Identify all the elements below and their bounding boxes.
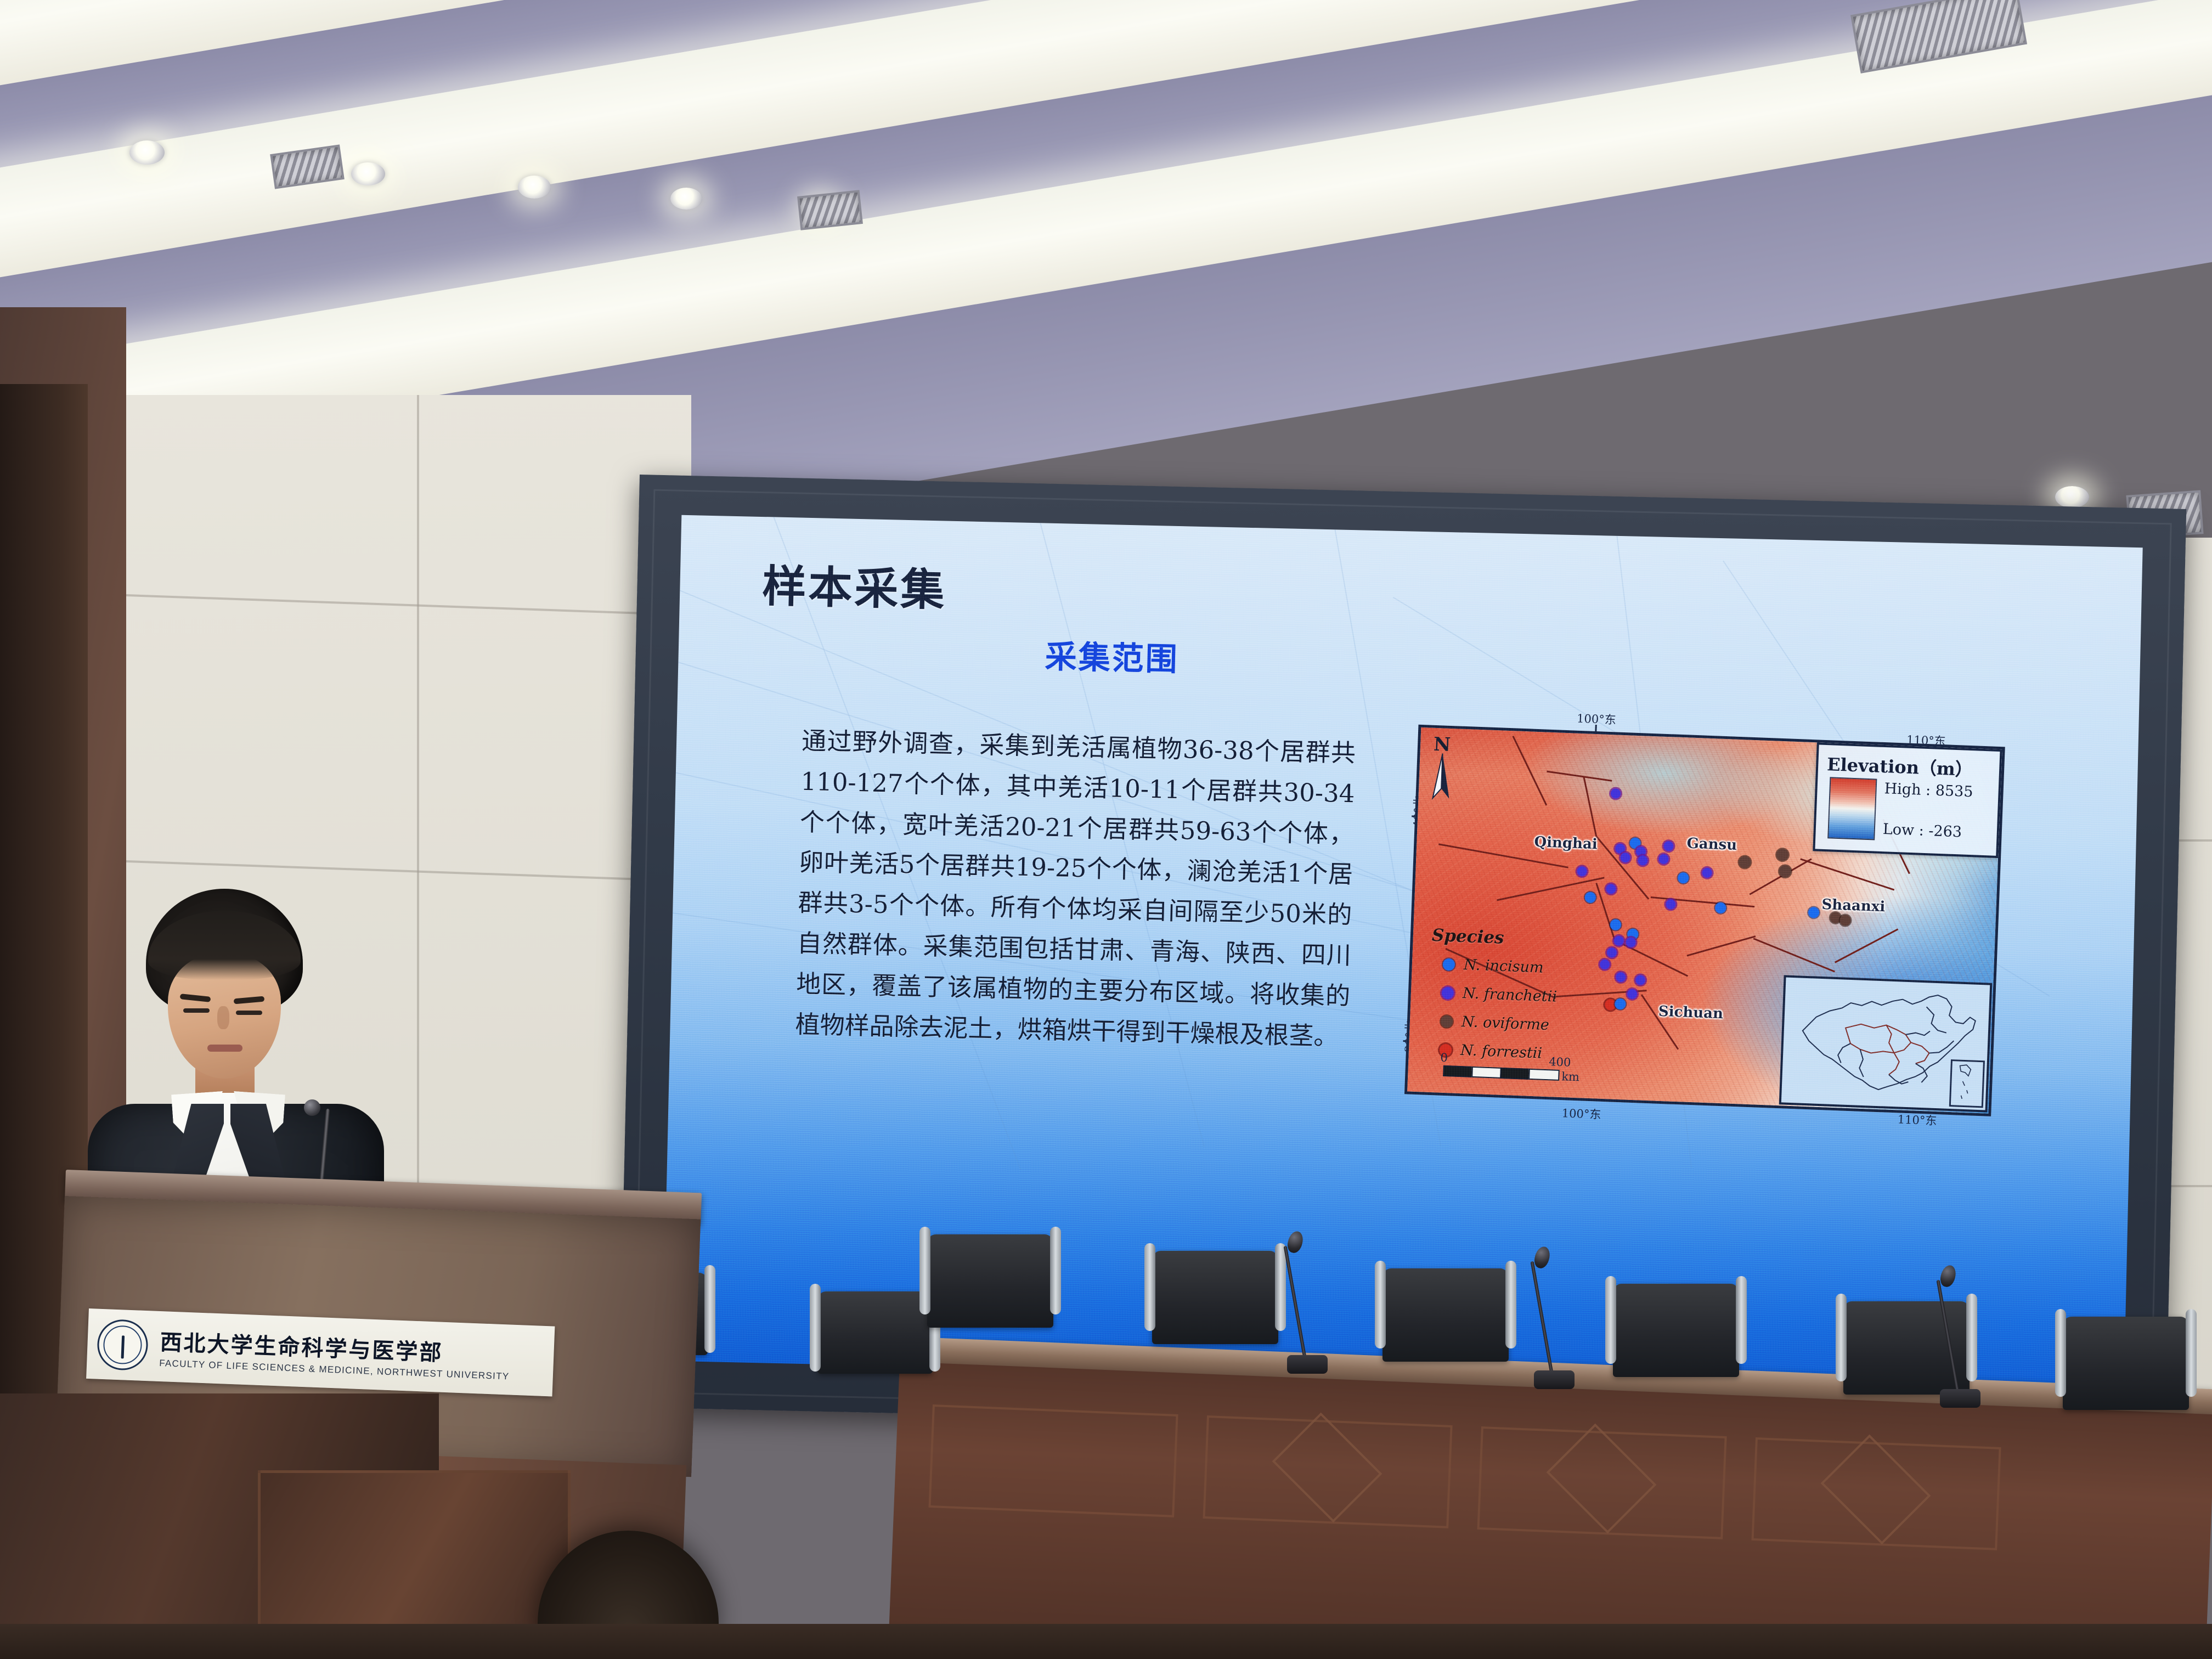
- elevation-legend-low: Low : -263: [1882, 821, 1962, 840]
- species-legend-title: Species: [1431, 926, 1504, 948]
- microphone-base: [1534, 1370, 1575, 1389]
- screenshot-root: 样本采集 采集范围 通过野外调查，采集到羌活属植物36-38个居群共110-12…: [0, 0, 2212, 1659]
- map-label-sichuan: Sichuan: [1658, 1003, 1723, 1022]
- microphone-base: [1287, 1355, 1328, 1374]
- ceiling-downlight-icon: [2055, 486, 2089, 508]
- map-axis-label-lon-bottom-left: 100°东: [1561, 1104, 1601, 1122]
- conference-chair: [927, 1234, 1053, 1328]
- map-frame: N Qinghai Gansu Shaanxi Sichuan: [1404, 725, 2005, 1116]
- elevation-color-ramp: [1827, 777, 1877, 840]
- elevation-legend: Elevation（m） High : 8535 Low : -263: [1813, 742, 2002, 858]
- presenter-eye-left: [183, 1008, 210, 1013]
- china-inset-map: [1779, 975, 1993, 1112]
- species-label: N. incisum: [1463, 956, 1544, 977]
- scalebar-label-min: 0: [1440, 1051, 1448, 1064]
- conference-table: [900, 1267, 2212, 1659]
- elevation-legend-title: Elevation（m）: [1827, 751, 1973, 781]
- species-label: N. franchetii: [1462, 985, 1557, 1006]
- scalebar-label-unit: km: [1561, 1070, 1580, 1084]
- elevation-legend-high: High : 8535: [1884, 780, 1973, 800]
- podium-nameplate-text: 西北大学生命科学与医学部 FACULTY OF LIFE SCIENCES & …: [159, 1324, 511, 1382]
- sampling-distribution-map: 100°东 110°东 40°北 30°北 100°东 110°东: [1387, 701, 2006, 1141]
- ceiling-downlight-icon: [351, 162, 385, 185]
- presenter-mouth: [207, 1045, 242, 1052]
- map-label-shaanxi: Shaanxi: [1821, 896, 1886, 915]
- scalebar-segment: [1443, 1065, 1474, 1077]
- table-panel-frame: [928, 1404, 1178, 1517]
- foreground-floor: [0, 1624, 2212, 1659]
- scalebar-segment: [1528, 1069, 1560, 1081]
- north-arrow-icon: N: [1428, 739, 1455, 799]
- species-swatch-incisum: [1443, 958, 1455, 970]
- ceiling-vent-icon: [797, 190, 863, 230]
- scalebar-label-max: 400: [1549, 1055, 1571, 1069]
- slide-body-text: 通过野外调查，采集到羌活属植物36-38个居群共110-127个个体，其中羌活1…: [795, 721, 1356, 1057]
- scalebar-segment: [1471, 1066, 1503, 1079]
- species-label: N. oviforme: [1461, 1013, 1549, 1034]
- species-swatch-oviforme: [1441, 1015, 1453, 1028]
- microphone-base: [1940, 1389, 1980, 1408]
- conference-chair: [2063, 1317, 2189, 1410]
- ceiling-downlight-icon: [129, 140, 165, 165]
- species-label: N. forrestii: [1460, 1042, 1542, 1062]
- slide-title: 样本采集: [761, 551, 947, 618]
- conference-chair: [817, 1291, 933, 1374]
- conference-chair: [1152, 1251, 1278, 1344]
- conference-chair: [1383, 1268, 1509, 1362]
- presentation-slide: 样本采集 采集范围 通过野外调查，采集到羌活属植物36-38个居群共110-12…: [663, 515, 2143, 1393]
- slide-subtitle: 采集范围: [1045, 631, 1180, 680]
- south-china-sea-inset: [1949, 1059, 1985, 1108]
- species-swatch-franchetii: [1442, 986, 1454, 999]
- ceiling-downlight-icon: [670, 188, 702, 210]
- presenter-eye-right: [236, 1011, 262, 1015]
- scalebar-segment: [1500, 1068, 1531, 1080]
- podium-microphone-head-icon: [304, 1099, 320, 1116]
- north-arrow-letter: N: [1433, 733, 1451, 756]
- university-emblem-icon: [97, 1319, 149, 1371]
- map-label-qinghai: Qinghai: [1534, 834, 1598, 853]
- map-label-gansu: Gansu: [1686, 835, 1737, 853]
- conference-chair: [1613, 1284, 1739, 1377]
- ceiling-downlight-icon: [518, 176, 551, 199]
- presenter-nose: [217, 1006, 229, 1029]
